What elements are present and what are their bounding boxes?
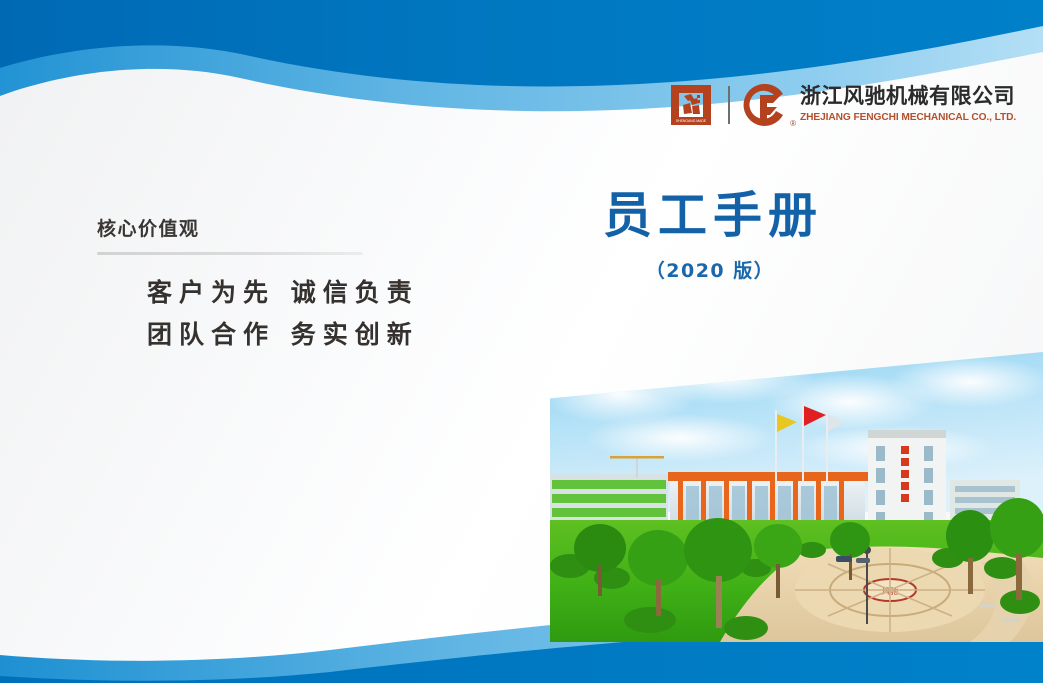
svg-text:SHENGANG MADE: SHENGANG MADE bbox=[676, 119, 707, 123]
top-dark-band bbox=[0, 0, 1043, 86]
company-name-cn: 浙江风驰机械有限公司 bbox=[800, 85, 1016, 109]
page-title: 员工手册 bbox=[560, 190, 860, 243]
core-values-line-1: 客户为先 诚信负责 bbox=[147, 272, 427, 314]
cover-page: 风驰 bbox=[0, 0, 1043, 683]
company-name-block: 浙江风驰机械有限公司 ZHEJIANG FENGCHI MECHANICAL C… bbox=[800, 85, 1016, 124]
core-values-section: 核心价值观 客户为先 诚信负责 团队合作 务实创新 bbox=[97, 218, 427, 355]
page-subtitle: （2020 版） bbox=[560, 256, 860, 283]
title-area: 员工手册 （2020 版） bbox=[560, 190, 860, 283]
registered-trademark-icon: ® bbox=[790, 120, 796, 128]
core-values-list: 客户为先 诚信负责 团队合作 务实创新 bbox=[97, 272, 427, 356]
fengchi-f-circle-logo: ® bbox=[743, 82, 789, 128]
core-values-heading: 核心价值观 bbox=[97, 218, 427, 241]
core-values-line-2: 团队合作 务实创新 bbox=[147, 314, 427, 356]
core-values-divider bbox=[97, 252, 363, 255]
company-logo-lockup: SHENGANG MADE ® 浙江风驰机械有限公司 ZHEJIANG FENG… bbox=[668, 76, 1016, 134]
logo-divider bbox=[728, 86, 730, 124]
company-name-en: ZHEJIANG FENGCHI MECHANICAL CO., LTD. bbox=[800, 112, 1016, 125]
shengang-made-seal-logo: SHENGANG MADE bbox=[668, 82, 714, 128]
campus-photo: 风驰 bbox=[550, 352, 1043, 642]
